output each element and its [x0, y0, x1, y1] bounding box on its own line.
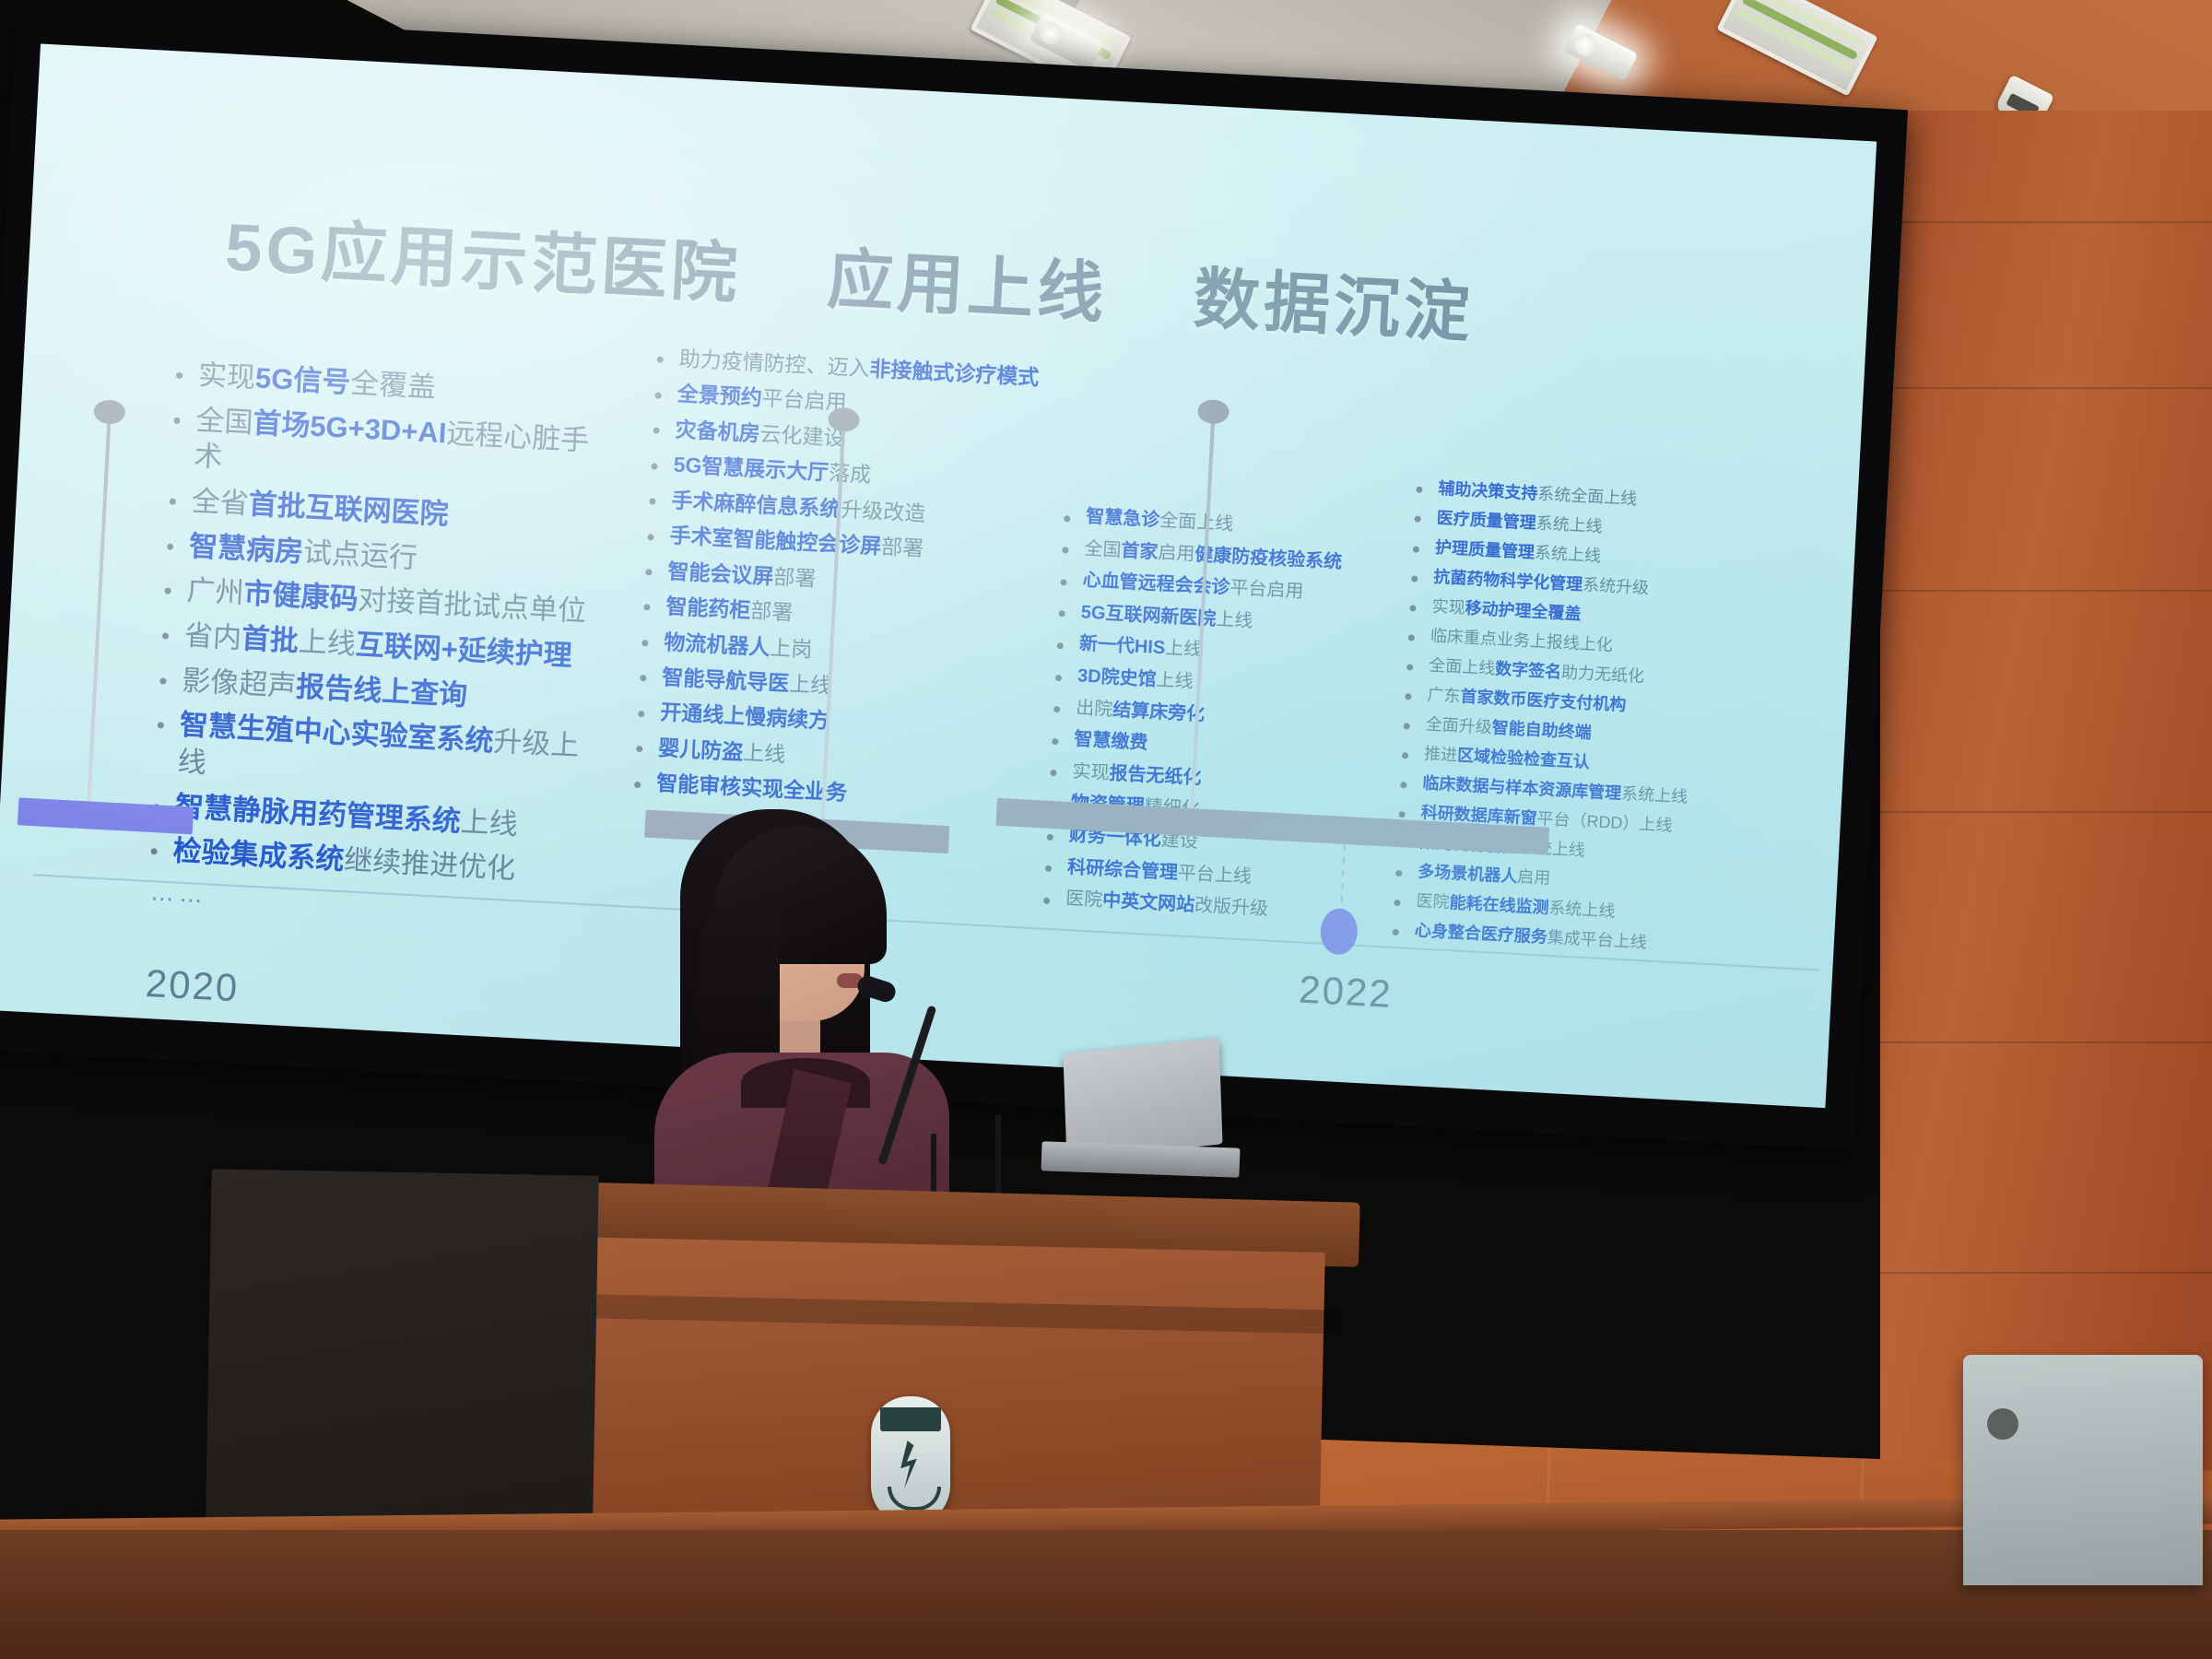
bullet-text-emphasis: 婴儿防盗: [658, 735, 744, 764]
bullet-text-emphasis: 结算床旁化: [1112, 700, 1206, 724]
bullet-text: 上线: [1156, 670, 1194, 692]
bullet-text: 系统升级: [1583, 575, 1650, 597]
bullet-text-emphasis: 区域检验检查互认: [1457, 747, 1591, 772]
bullet-text-emphasis: 新一代HIS: [1078, 634, 1165, 659]
bullet-text: 部署: [773, 564, 817, 590]
bullet-text-emphasis: 首批互联网医院: [248, 488, 450, 530]
bullet-text-emphasis: 检验集成系统: [172, 835, 346, 877]
bullet-text-emphasis: 物流机器人: [664, 629, 771, 659]
bullet-text-emphasis: 非接触式诊疗模式: [869, 357, 1040, 390]
photo-scene: 5G应用示范医院 应用上线 数据沉淀 实现5G信号全覆盖全国首场5G+3D+AI…: [0, 0, 2212, 1659]
bullet-text-emphasis: 3D院史馆: [1077, 665, 1158, 690]
bullet-text: 广州: [186, 574, 245, 609]
bullet-text: 系统全面上线: [1537, 485, 1638, 509]
bullet-text: 上线: [1165, 639, 1203, 661]
bullet-text-emphasis: 手术麻醉信息系统: [671, 488, 841, 521]
bullet-text: 系统上线: [1621, 784, 1688, 806]
bullet-text: 上线: [743, 740, 786, 766]
bullet-text: 实现: [1072, 761, 1110, 783]
bullet-text: 广东: [1427, 686, 1461, 706]
bullet-text-emphasis: 智能药柜: [665, 594, 751, 622]
bullet-text: 试点运行: [302, 535, 418, 574]
bullet-text-emphasis: 健康防疫核验系统: [1194, 544, 1343, 571]
slide-title-part-3: 数据沉淀: [1192, 262, 1476, 350]
bullet-text: 平台启用: [1230, 578, 1304, 602]
bullet-text: 全覆盖: [349, 367, 437, 404]
bullet-text: 全面上线: [1429, 656, 1496, 678]
bullet-text-emphasis: 移动护理全覆盖: [1465, 599, 1582, 624]
timeline-stem: [87, 412, 112, 808]
bullet-text: 部署: [750, 598, 794, 624]
bullet-list: 辅助决策支持系统全面上线医疗质量管理系统上线护理质量管理系统上线抗菌药物科学化管…: [1386, 477, 1806, 961]
bullet-text: 启用: [1158, 542, 1195, 564]
bullet-list: 实现5G信号全覆盖全国首场5G+3D+AI远程心脏手术全省首批互联网医院智慧病房…: [145, 355, 614, 891]
slide-column-2020: 实现5G信号全覆盖全国首场5G+3D+AI远程心脏手术全省首批互联网医院智慧病房…: [142, 355, 613, 929]
bullet-text-emphasis: 开通线上慢病续方: [660, 700, 830, 734]
bullet-text-emphasis: 临床数据与样本资源库管理: [1422, 774, 1622, 803]
bullet-text: 平台上线: [1177, 863, 1252, 887]
bullet-text-emphasis: 智慧病房: [188, 530, 304, 569]
bullet-text: 全省: [191, 485, 250, 520]
bullet-text-emphasis: 辅助决策支持: [1438, 479, 1538, 503]
bullet-text-emphasis: 首家数币医疗支付机构: [1460, 688, 1627, 715]
bullet-text: 继续推进优化: [343, 844, 516, 886]
bullet-text: 上线: [1216, 609, 1253, 631]
bullet-item: 智慧生殖中心实验室系统升级上线: [149, 705, 595, 802]
bullet-text: 省内: [183, 619, 242, 654]
bullet-text: 改版升级: [1194, 896, 1268, 920]
bullet-text-emphasis: 首场5G+3D+AI: [253, 406, 448, 449]
bullet-text-emphasis: 5G信号: [254, 361, 351, 398]
slide-column-2022-b: 辅助决策支持系统全面上线医疗质量管理系统上线护理质量管理系统上线抗菌药物科学化管…: [1386, 477, 1807, 970]
bullet-text: 全国: [195, 404, 254, 439]
bullet-text: 助力无纸化: [1561, 663, 1645, 686]
bullet-text-emphasis: 首批: [241, 622, 300, 657]
bullet-text: 系统上线: [1548, 899, 1616, 921]
bullet-text-emphasis: 智能会议屏: [667, 559, 774, 588]
bullet-text: 上线: [789, 672, 832, 698]
bullet-text: 集成平台上线: [1547, 928, 1647, 952]
bullet-text: 启用: [1517, 867, 1551, 888]
bullet-text-emphasis: 心血管远程会会诊: [1082, 571, 1230, 598]
bullet-text-emphasis: 心身整合医疗服务: [1414, 922, 1547, 947]
bullet-text: 全国: [1084, 538, 1122, 560]
slide-title-part-2: 应用上线: [826, 242, 1110, 331]
bullet-list: 智慧急诊全面上线全国首家启用健康防疫核验系统心血管远程会会诊平台启用5G互联网新…: [1038, 504, 1428, 929]
bullet-text: 实现: [197, 359, 256, 394]
bullet-text: 上线: [298, 625, 357, 660]
bullet-text-emphasis: 智慧生殖中心实验室系统: [179, 709, 494, 758]
bullet-text: 上岗: [770, 635, 813, 661]
bullet-text: 临床重点业务上报线上化: [1430, 627, 1613, 655]
bullet-text: 上线: [460, 806, 519, 841]
bullet-text-emphasis: 抗菌药物科学化管理: [1433, 568, 1583, 594]
slide-title: 5G应用示范医院 应用上线 数据沉淀: [223, 193, 1477, 356]
bullet-text-emphasis: 多场景机器人: [1418, 863, 1518, 887]
bullet-text-emphasis: 智能导航导医: [662, 665, 790, 695]
bullet-text: 助力疫情防控、迈入: [678, 347, 870, 381]
bullet-text: 医院: [1416, 892, 1450, 912]
bullet-text-emphasis: 灾备机房: [675, 418, 760, 446]
side-table: [1963, 1355, 2203, 1585]
bullet-text: 系统上线: [1535, 514, 1603, 536]
bullet-text: 全面升级: [1425, 715, 1492, 737]
bullet-text: 落成: [828, 461, 871, 487]
bullet-text: 医院: [1065, 888, 1103, 911]
bullet-text: 升级改造: [841, 497, 926, 525]
bullet-text: 部署: [881, 535, 924, 560]
bullet-text-emphasis: 首家: [1121, 540, 1159, 562]
timeline-year-2022: 2022: [1298, 968, 1394, 1017]
bullet-text-emphasis: 科研综合管理: [1067, 857, 1179, 883]
bullet-text: 推进: [1424, 745, 1458, 765]
bullet-text-emphasis: 智慧静脉用药管理系统: [174, 790, 461, 837]
bullet-text-emphasis: 数字签名: [1495, 660, 1562, 682]
emblem-bowl: [888, 1487, 941, 1511]
bullet-text: 全面上线: [1159, 511, 1234, 535]
timeline-year-2020: 2020: [145, 961, 241, 1010]
bullet-text-emphasis: 报告线上查询: [295, 670, 468, 712]
bullet-text-emphasis: 市健康码: [243, 577, 359, 616]
slide-title-part-1: 5G应用示范医院: [223, 210, 743, 312]
bullet-text-emphasis: 5G互联网新医院: [1080, 602, 1217, 629]
bullet-text-emphasis: 护理质量管理: [1435, 538, 1535, 562]
bullet-text-emphasis: 医疗质量管理: [1436, 509, 1536, 533]
bullet-text-emphasis: 智能自助终端: [1491, 719, 1592, 743]
bullet-text-emphasis: 智慧缴费: [1074, 729, 1148, 753]
bullet-text: 平台（RDD）上线: [1536, 809, 1673, 835]
bullet-item: 全国首场5G+3D+AI远程心脏手术: [165, 400, 611, 497]
bullet-text: 实现: [1431, 597, 1465, 618]
bullet-text-emphasis: 手术室智能触控会诊屏: [669, 524, 882, 559]
bullet-text: 出院: [1076, 698, 1113, 720]
bullet-text-emphasis: 报告无纸化: [1109, 763, 1202, 788]
bullet-text: 对接首批试点单位: [358, 583, 588, 628]
bullet-text-emphasis: 中英文网站: [1102, 890, 1195, 915]
slide-columns: 实现5G信号全覆盖全国首场5G+3D+AI远程心脏手术全省首批互联网医院智慧病房…: [88, 351, 1837, 444]
timeline-knob: [93, 399, 125, 425]
bullet-text-emphasis: 能耗在线监测: [1449, 894, 1549, 918]
timeline-knob: [1197, 399, 1230, 425]
bullet-text-emphasis: 5G智慧展示大厅: [673, 453, 829, 485]
slide-column-2022-a: 智慧急诊全面上线全国首家启用健康防疫核验系统心血管远程会会诊平台启用5G互联网新…: [1037, 504, 1427, 937]
bullet-text-emphasis: 全景预约: [677, 382, 762, 410]
bullet-text-emphasis: 互联网+延续护理: [355, 629, 573, 672]
bullet-text: 系统上线: [1534, 544, 1601, 566]
university-emblem-icon: [871, 1396, 950, 1525]
bullet-text-emphasis: 智慧急诊: [1086, 507, 1160, 531]
stage-floor: [0, 1530, 2212, 1659]
bullet-text: 影像超声: [182, 664, 298, 702]
